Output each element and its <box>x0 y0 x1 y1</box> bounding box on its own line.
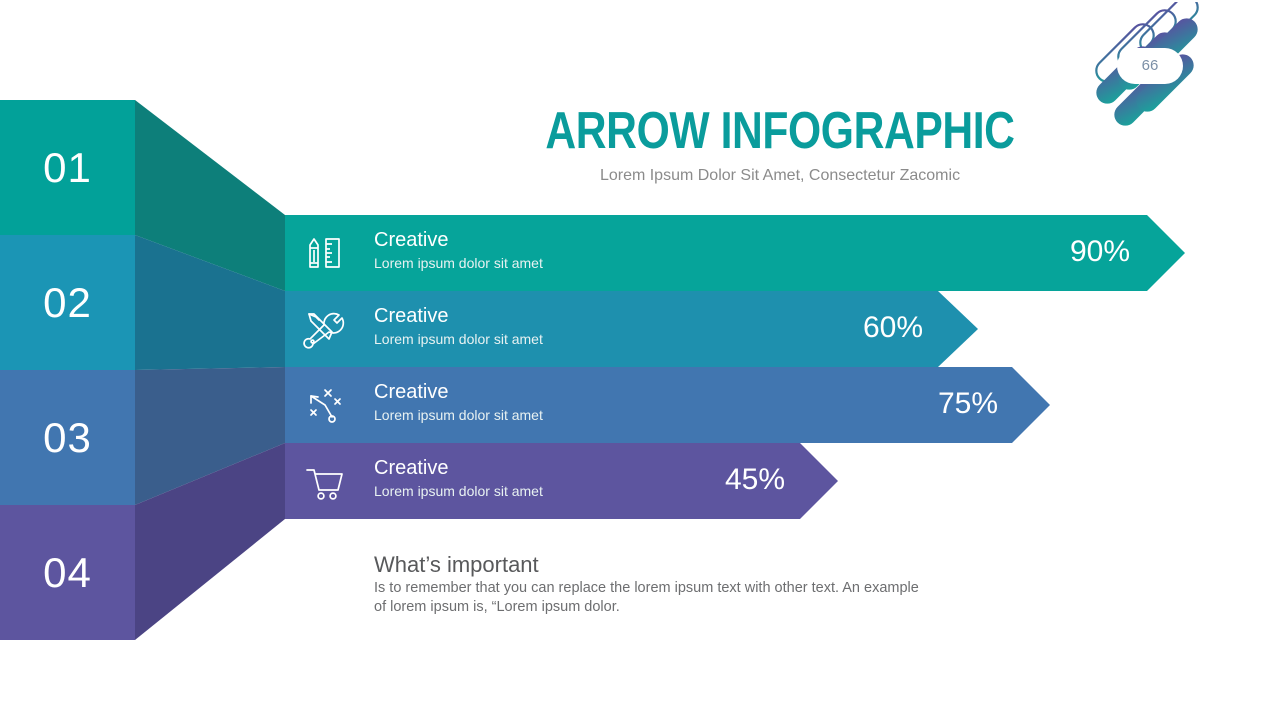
step-number-block-04[interactable]: 04 <box>0 505 135 640</box>
note-title: What’s important <box>374 552 539 578</box>
arrow-bar-3[interactable]: Creative Lorem ipsum dolor sit amet 75% <box>285 367 1050 443</box>
page-title: ARROW INFOGRAPHIC <box>370 104 1190 158</box>
arrow-bar-text: Creative Lorem ipsum dolor sit amet <box>374 379 543 425</box>
logo-number: 66 <box>1117 48 1183 84</box>
arrow-bar-subtitle: Lorem ipsum dolor sit amet <box>374 329 543 349</box>
arrow-bar-title: Creative <box>374 227 543 253</box>
strategy-icon <box>299 380 349 430</box>
arrow-bar-title: Creative <box>374 379 543 405</box>
step-number-block-02[interactable]: 02 <box>0 235 135 370</box>
connector-trapezoid <box>135 100 285 640</box>
arrow-bar-1[interactable]: Creative Lorem ipsum dolor sit amet 90% <box>285 215 1185 291</box>
page-subtitle: Lorem Ipsum Dolor Sit Amet, Consectetur … <box>280 167 1280 185</box>
arrow-bar-subtitle: Lorem ipsum dolor sit amet <box>374 405 543 425</box>
shopping-cart-icon <box>299 456 349 506</box>
step-number-label: 02 <box>43 279 92 327</box>
arrow-bar-subtitle: Lorem ipsum dolor sit amet <box>374 253 543 273</box>
step-number-label: 04 <box>43 549 92 597</box>
arrow-bar-2[interactable]: Creative Lorem ipsum dolor sit amet 60% <box>285 291 978 367</box>
arrow-bar-text: Creative Lorem ipsum dolor sit amet <box>374 227 543 273</box>
slide-canvas: 66 ARROW INFOGRAPHIC Lorem Ipsum Dolor S… <box>0 0 1280 720</box>
step-number-label: 01 <box>43 144 92 192</box>
pencil-ruler-icon <box>299 228 349 278</box>
arrow-bar-percent: 90% <box>985 235 1130 269</box>
tools-icon <box>299 304 349 354</box>
arrow-bar-title: Creative <box>374 303 543 329</box>
step-number-block-03[interactable]: 03 <box>0 370 135 505</box>
note-body: Is to remember that you can replace the … <box>374 579 934 617</box>
arrow-bar-text: Creative Lorem ipsum dolor sit amet <box>374 455 543 501</box>
arrow-bar-4[interactable]: Creative Lorem ipsum dolor sit amet 45% <box>285 443 838 519</box>
arrow-bar-percent: 45% <box>637 463 785 497</box>
step-number-block-01[interactable]: 01 <box>0 100 135 235</box>
arrow-bar-subtitle: Lorem ipsum dolor sit amet <box>374 481 543 501</box>
arrow-bar-text: Creative Lorem ipsum dolor sit amet <box>374 303 543 349</box>
step-number-label: 03 <box>43 414 92 462</box>
arrow-bar-percent: 75% <box>850 387 998 421</box>
arrow-bar-percent: 60% <box>775 311 923 345</box>
arrow-bar-title: Creative <box>374 455 543 481</box>
